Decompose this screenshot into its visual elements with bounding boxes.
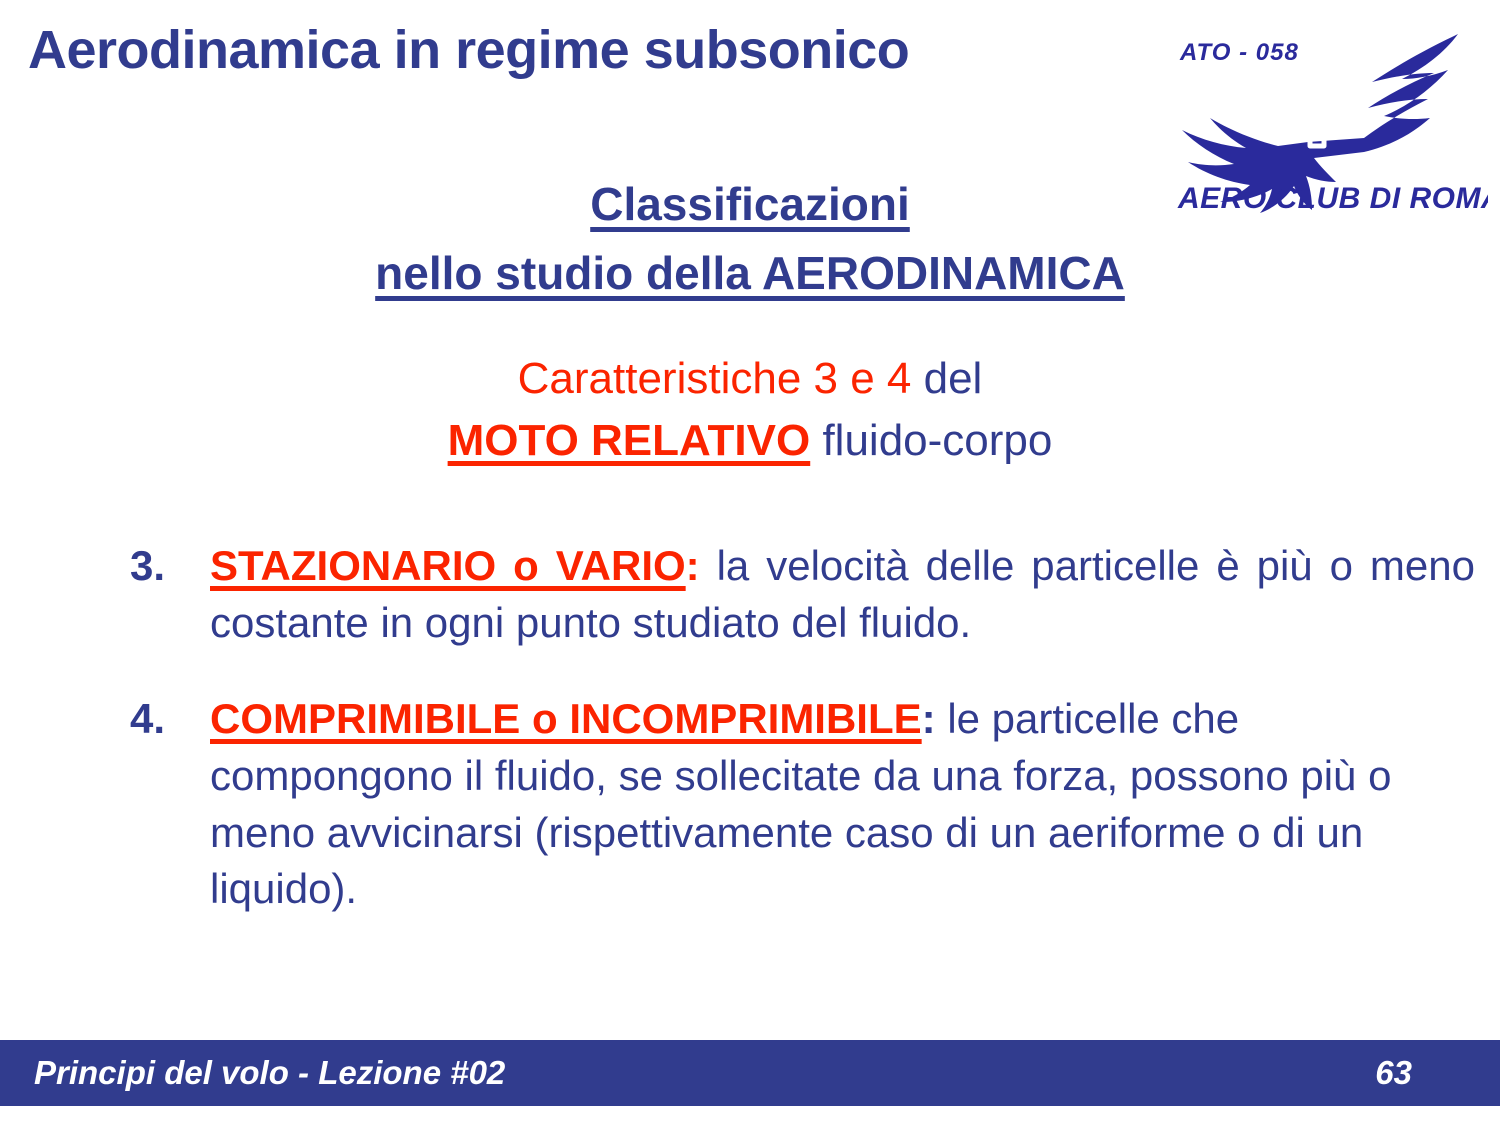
heading-line-2-text: nello studio della AERODINAMICA (375, 247, 1125, 299)
subtitle-line-1: Caratteristiche 3 e 4 del (0, 348, 1500, 410)
subtitle-line-1-blue: del (911, 354, 982, 403)
list-item: 4.COMPRIMIBILE o INCOMPRIMIBILE: le part… (130, 691, 1475, 918)
footer-course-label: Principi del volo - Lezione #02 (34, 1054, 505, 1092)
section-heading: Classificazioni nello studio della AEROD… (0, 170, 1500, 308)
logo-ato-text: ATO - 058 (1179, 39, 1299, 66)
subtitle-line-2: MOTO RELATIVO fluido-corpo (0, 410, 1500, 472)
numbered-list: 3.STAZIONARIO o VARIO: la velocità delle… (130, 538, 1475, 918)
list-item-colon: : (686, 542, 700, 589)
list-item-lead: STAZIONARIO o VARIO (210, 542, 686, 589)
list-item: 3.STAZIONARIO o VARIO: la velocità delle… (130, 538, 1475, 651)
list-item-lead: COMPRIMIBILE o INCOMPRIMIBILE (210, 695, 922, 742)
list-item-number: 3. (130, 538, 186, 595)
slide-canvas: Aerodinamica in regime subsonico ATO - 0… (0, 0, 1500, 1125)
subtitle-line-2-red: MOTO RELATIVO (448, 416, 811, 465)
subtitle-block: Caratteristiche 3 e 4 del MOTO RELATIVO … (0, 348, 1500, 473)
heading-line-2: nello studio della AERODINAMICA (0, 239, 1500, 308)
heading-line-1: Classificazioni (0, 170, 1500, 239)
footer-bar: Principi del volo - Lezione #02 63 (0, 1040, 1500, 1106)
list-item-colon: : (922, 695, 936, 742)
subtitle-line-2-blue: fluido-corpo (810, 416, 1052, 465)
heading-line-1-text: Classificazioni (590, 178, 910, 230)
list-item-number: 4. (130, 691, 186, 748)
subtitle-line-1-red: Caratteristiche 3 e 4 (518, 354, 912, 403)
page-number: 63 (1375, 1054, 1412, 1092)
page-title: Aerodinamica in regime subsonico (28, 22, 1138, 79)
